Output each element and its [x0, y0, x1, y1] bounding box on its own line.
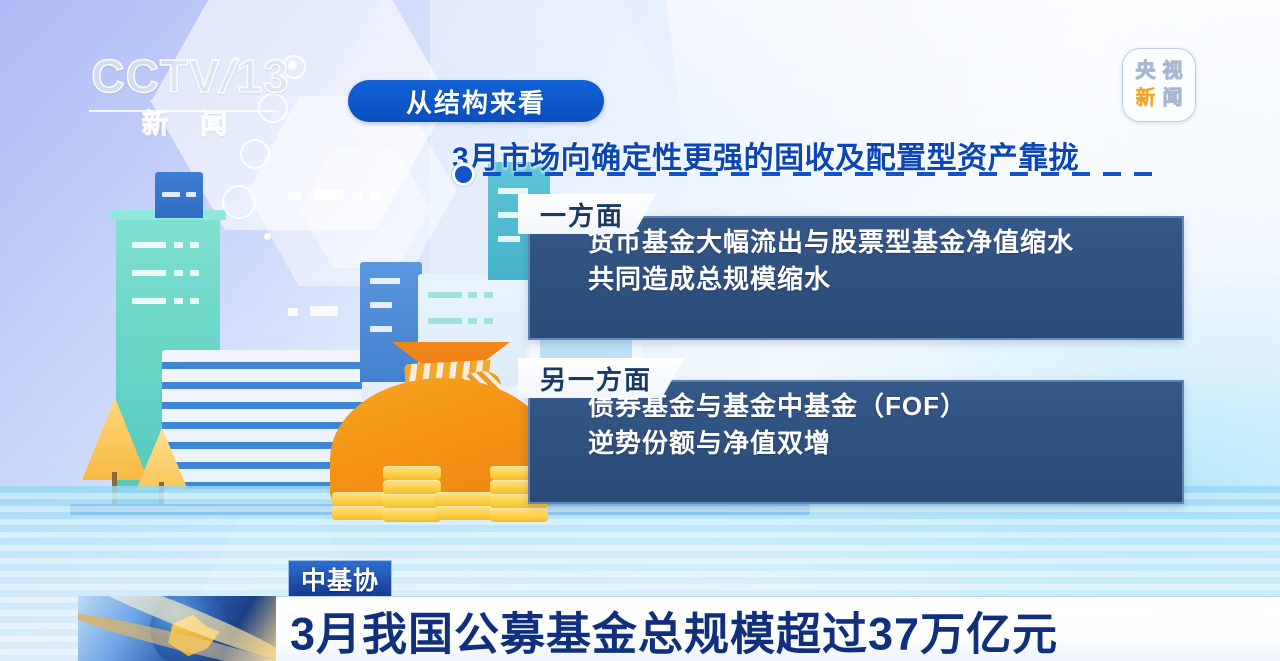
- section-two-tab: 另一方面: [518, 358, 684, 398]
- section-two-line-1: 债券基金与基金中基金（FOF）: [588, 388, 1182, 425]
- section-one-line-2: 共同造成总规模缩水: [588, 261, 1182, 298]
- logo-char-wen: 闻: [1160, 86, 1185, 111]
- headline-underline: [452, 166, 1152, 182]
- cctv-logo-subtext: 新 闻: [83, 102, 298, 141]
- section-two-tab-label: 另一方面: [540, 360, 652, 397]
- source-badge: 中基协: [288, 560, 392, 598]
- section-two-panel: 债券基金与基金中基金（FOF） 逆势份额与净值双增: [528, 380, 1184, 504]
- section-pill-label: 从结构来看: [406, 83, 546, 120]
- source-badge-label: 中基协: [301, 561, 379, 597]
- broadcast-screen: CCTV/13 新 闻 央 视 新 闻 从结构来看 3月市场向确定性更强的固收及…: [0, 0, 1280, 661]
- logo-char-shi: 视: [1160, 59, 1185, 84]
- cctv-logo-underline: [89, 110, 279, 112]
- lower-third-banner: 3月我国公募基金总规模超过37万亿元: [276, 596, 1280, 661]
- section-one-tab-label: 一方面: [540, 196, 624, 233]
- logo-char-yang: 央: [1133, 59, 1158, 84]
- dashed-rule: [483, 172, 1152, 176]
- section-two-line-2: 逆势份额与净值双增: [588, 425, 1182, 462]
- section-one-tab: 一方面: [518, 194, 656, 234]
- section-pill-structure: 从结构来看: [348, 80, 604, 122]
- logo-char-xin: 新: [1133, 86, 1158, 111]
- cctv-logo-text: CCTV/13: [83, 52, 298, 100]
- section-one-panel: 货币基金大幅流出与股票型基金净值缩水 共同造成总规模缩水: [528, 216, 1184, 340]
- section-one-line-1: 货币基金大幅流出与股票型基金净值缩水: [588, 224, 1182, 261]
- cctv13-logo: CCTV/13 新 闻: [83, 52, 298, 140]
- yangshi-news-logo: 央 视 新 闻: [1122, 48, 1196, 122]
- globe-graphic-icon: [78, 596, 276, 661]
- bullet-dot-icon: [452, 163, 475, 186]
- lower-third-headline: 3月我国公募基金总规模超过37万亿元: [290, 597, 1058, 661]
